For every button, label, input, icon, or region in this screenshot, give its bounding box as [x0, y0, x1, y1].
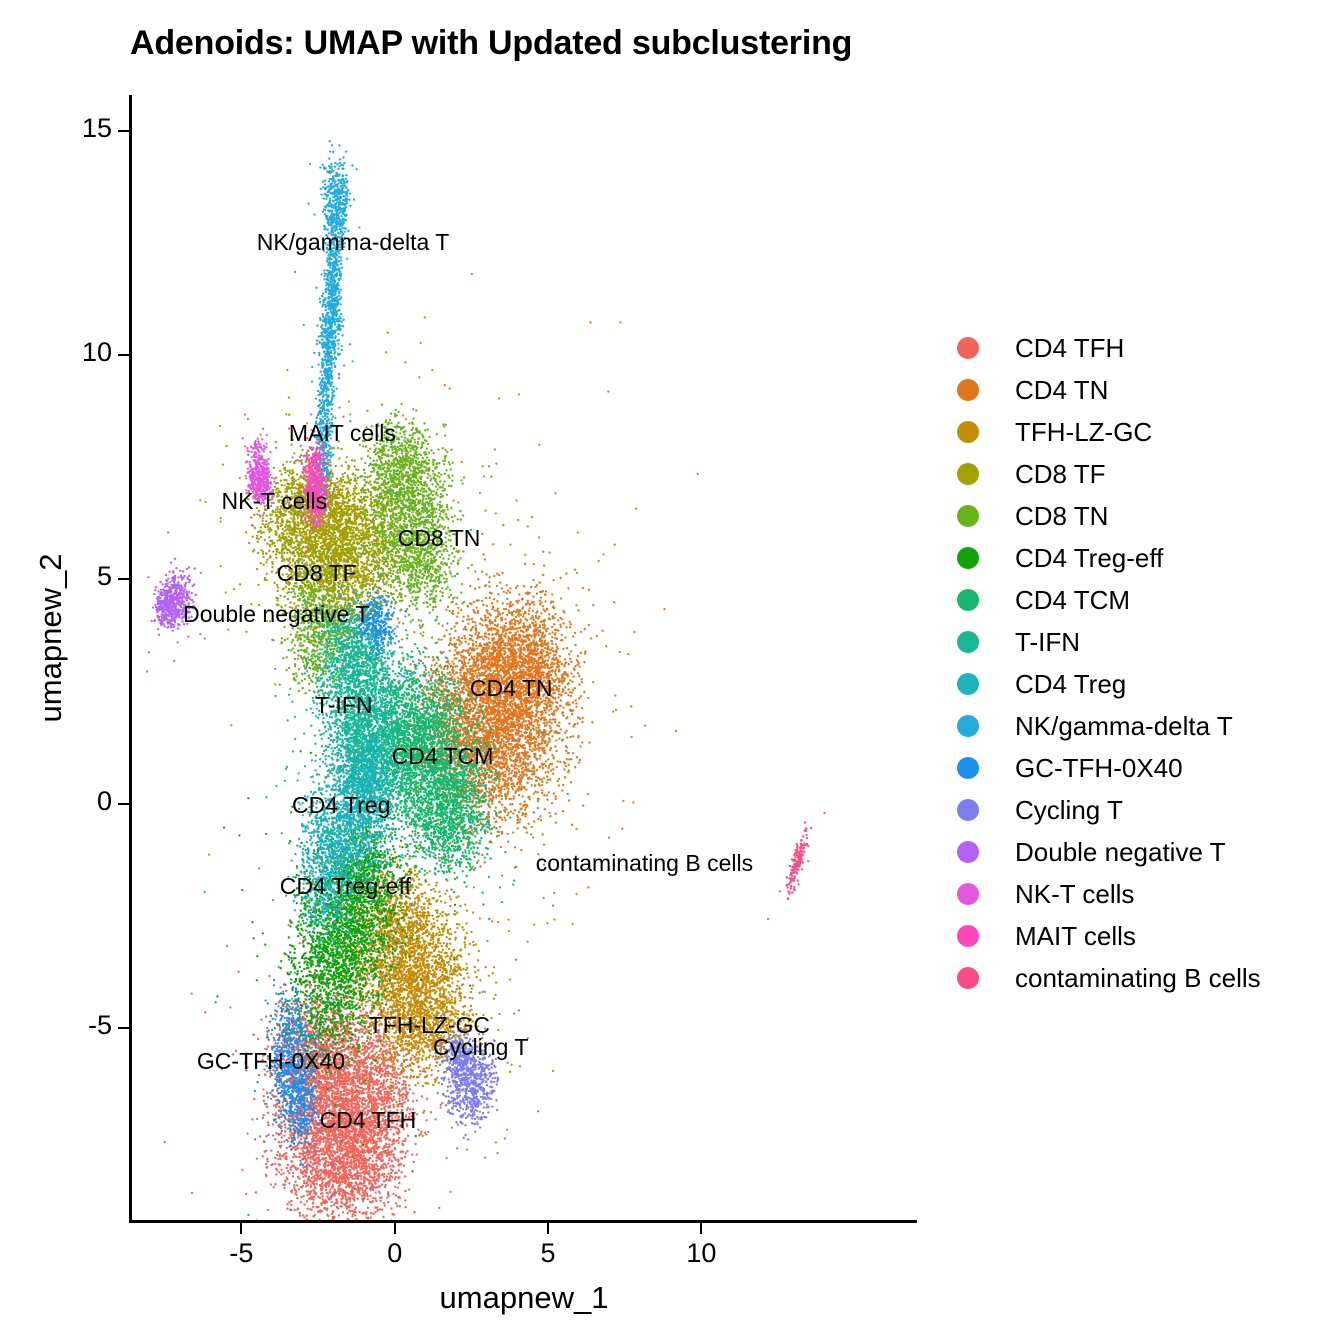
- legend-swatch-icon: [957, 547, 979, 569]
- legend-label: CD4 Treg-eff: [1015, 543, 1163, 574]
- legend-swatch-icon: [957, 715, 979, 737]
- legend-item[interactable]: NK/gamma-delta T: [948, 705, 1338, 747]
- legend-label: NK-T cells: [1015, 879, 1134, 910]
- legend-swatch-icon: [957, 463, 979, 485]
- x-tick-mark: [240, 1223, 242, 1234]
- legend-swatch-icon: [957, 883, 979, 905]
- legend-swatch-icon: [957, 337, 979, 359]
- legend-item[interactable]: CD4 Treg: [948, 663, 1338, 705]
- x-axis-title: umapnew_1: [131, 1280, 917, 1316]
- y-tick-mark: [118, 1027, 129, 1029]
- y-axis-title: umapnew_2: [33, 538, 69, 738]
- legend-label: Double negative T: [1015, 837, 1226, 868]
- legend-item[interactable]: contaminating B cells: [948, 957, 1338, 999]
- legend-swatch-icon: [957, 505, 979, 527]
- legend-item[interactable]: GC-TFH-0X40: [948, 747, 1338, 789]
- legend-label: GC-TFH-0X40: [1015, 753, 1183, 784]
- legend-label: CD8 TN: [1015, 501, 1108, 532]
- legend-item[interactable]: TFH-LZ-GC: [948, 411, 1338, 453]
- legend: CD4 TFHCD4 TNTFH-LZ-GCCD8 TFCD8 TNCD4 Tr…: [948, 327, 1338, 999]
- legend-item[interactable]: CD4 TFH: [948, 327, 1338, 369]
- legend-swatch-icon: [957, 421, 979, 443]
- legend-swatch-icon: [957, 799, 979, 821]
- y-tick-label: 10: [82, 337, 112, 368]
- legend-swatch-icon: [957, 967, 979, 989]
- legend-item[interactable]: NK-T cells: [948, 873, 1338, 915]
- legend-label: CD4 Treg: [1015, 669, 1126, 700]
- y-tick-mark: [118, 130, 129, 132]
- legend-item[interactable]: MAIT cells: [948, 915, 1338, 957]
- y-tick-label: 15: [82, 113, 112, 144]
- y-tick-label: 0: [97, 786, 112, 817]
- y-tick-mark: [118, 803, 129, 805]
- legend-label: TFH-LZ-GC: [1015, 417, 1152, 448]
- legend-item[interactable]: Cycling T: [948, 789, 1338, 831]
- legend-label: MAIT cells: [1015, 921, 1136, 952]
- legend-item[interactable]: CD4 TCM: [948, 579, 1338, 621]
- x-tick-label: 0: [335, 1238, 455, 1269]
- legend-item[interactable]: CD4 TN: [948, 369, 1338, 411]
- legend-item[interactable]: CD8 TF: [948, 453, 1338, 495]
- x-tick-mark: [547, 1223, 549, 1234]
- legend-swatch-icon: [957, 379, 979, 401]
- x-tick-label: 10: [641, 1238, 761, 1269]
- legend-item[interactable]: CD8 TN: [948, 495, 1338, 537]
- x-tick-label: -5: [181, 1238, 301, 1269]
- y-tick-mark: [118, 354, 129, 356]
- y-axis-line: [129, 95, 132, 1223]
- x-tick-label: 5: [488, 1238, 608, 1269]
- legend-item[interactable]: T-IFN: [948, 621, 1338, 663]
- legend-label: T-IFN: [1015, 627, 1080, 658]
- legend-label: CD4 TCM: [1015, 585, 1130, 616]
- y-tick-label: 5: [97, 561, 112, 592]
- legend-swatch-icon: [957, 589, 979, 611]
- legend-swatch-icon: [957, 631, 979, 653]
- y-tick-mark: [118, 578, 129, 580]
- legend-label: NK/gamma-delta T: [1015, 711, 1233, 742]
- legend-item[interactable]: Double negative T: [948, 831, 1338, 873]
- scatter-plot-panel: [131, 95, 916, 1221]
- legend-swatch-icon: [957, 925, 979, 947]
- legend-swatch-icon: [957, 673, 979, 695]
- umap-figure: Adenoids: UMAP with Updated subclusterin…: [0, 0, 1344, 1344]
- x-tick-mark: [394, 1223, 396, 1234]
- page-title: Adenoids: UMAP with Updated subclusterin…: [130, 24, 1090, 63]
- legend-label: CD4 TN: [1015, 375, 1108, 406]
- legend-label: Cycling T: [1015, 795, 1123, 826]
- scatter-canvas: [131, 95, 916, 1221]
- legend-label: CD8 TF: [1015, 459, 1106, 490]
- legend-swatch-icon: [957, 757, 979, 779]
- legend-item[interactable]: CD4 Treg-eff: [948, 537, 1338, 579]
- x-axis-line: [129, 1220, 917, 1223]
- y-tick-label: -5: [88, 1010, 112, 1041]
- legend-label: contaminating B cells: [1015, 963, 1261, 994]
- legend-swatch-icon: [957, 841, 979, 863]
- x-tick-mark: [700, 1223, 702, 1234]
- legend-label: CD4 TFH: [1015, 333, 1124, 364]
